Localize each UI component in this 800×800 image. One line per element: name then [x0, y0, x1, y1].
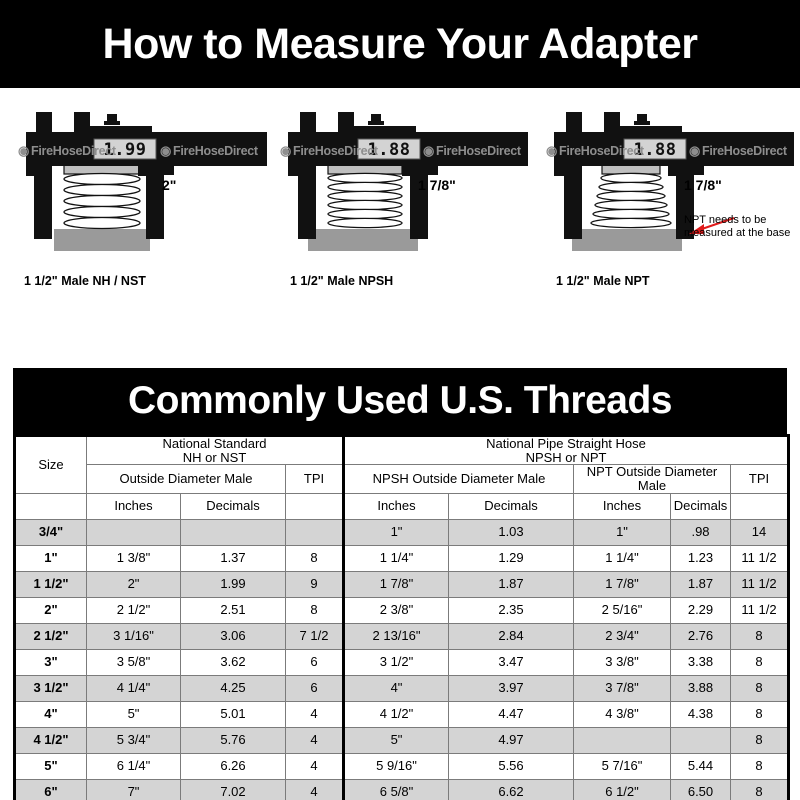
- cell-npt-decimals: 5.44: [671, 753, 731, 779]
- cell-npsh-inches: 6 5/8": [344, 779, 449, 800]
- cell-size: 3": [15, 649, 87, 675]
- header-npt-outside-diameter-male: NPT Outside Diameter Male: [574, 465, 731, 493]
- cell-npsh-inches: 3 1/2": [344, 649, 449, 675]
- diagram-npsh: 1.88 ◉ FireHoseDirect ◉ FireHoseDirect 1…: [278, 106, 543, 356]
- reading-label-npt: 1 7/8": [684, 177, 722, 193]
- table-header-row-sub: Outside Diameter Male TPI NPSH Outside D…: [15, 465, 789, 493]
- reading-label-nh: 2": [162, 177, 176, 193]
- cell-nh-decimals: 1.99: [181, 571, 286, 597]
- caliper-diagram-band: FireHoseDirect: [0, 88, 800, 368]
- cell-nh-inches: 1 3/8": [87, 545, 181, 571]
- cell-npt-decimals: 1.87: [671, 571, 731, 597]
- table-title-bar: Commonly Used U.S. Threads: [13, 368, 787, 434]
- cell-np-tpi: 8: [731, 753, 789, 779]
- diagram-nh-nst: 1.99 ◉ FireHoseDirect ◉ FireHoseDirect 2…: [12, 106, 277, 356]
- cell-np-tpi: 8: [731, 649, 789, 675]
- cell-size: 3/4": [15, 519, 87, 545]
- cell-npsh-inches: 4 1/2": [344, 701, 449, 727]
- header-units-nh-tpi-blank: [286, 493, 344, 519]
- cell-nh-tpi: 8: [286, 597, 344, 623]
- cell-nh-inches: 2 1/2": [87, 597, 181, 623]
- npt-base-note: NPT needs to be measured at the base: [684, 214, 790, 240]
- cell-np-tpi: 8: [731, 779, 789, 800]
- svg-text:1.88: 1.88: [368, 140, 411, 160]
- cell-npsh-inches: 1": [344, 519, 449, 545]
- header-nh-tpi: TPI: [286, 465, 344, 493]
- cell-npt-inches: 4 3/8": [574, 701, 671, 727]
- cell-npt-decimals: 4.38: [671, 701, 731, 727]
- table-row: 5"6 1/4"6.2645 9/16"5.565 7/16"5.448: [15, 753, 789, 779]
- measure-adapter-infographic: How to Measure Your Adapter FireHoseDire…: [0, 0, 800, 800]
- cell-nh-decimals: 3.62: [181, 649, 286, 675]
- cell-npsh-decimals: 2.84: [449, 623, 574, 649]
- cell-nh-decimals: 1.37: [181, 545, 286, 571]
- cell-nh-tpi: 6: [286, 649, 344, 675]
- header-npt-decimals: Decimals: [671, 493, 731, 519]
- table-row: 4"5"5.0144 1/2"4.474 3/8"4.388: [15, 701, 789, 727]
- cell-nh-tpi: 4: [286, 753, 344, 779]
- cell-nh-tpi: 4: [286, 779, 344, 800]
- cell-size: 6": [15, 779, 87, 800]
- cell-np-tpi: 8: [731, 675, 789, 701]
- caption-npt: 1 1/2" Male NPT: [556, 274, 649, 288]
- table-row: 6"7"7.0246 5/8"6.626 1/2"6.508: [15, 779, 789, 800]
- header-npt-inches: Inches: [574, 493, 671, 519]
- caliper-npsh-graphic: 1.88: [278, 106, 543, 356]
- table-row: 2 1/2"3 1/16"3.067 1/22 13/16"2.842 3/4"…: [15, 623, 789, 649]
- cell-nh-tpi: 7 1/2: [286, 623, 344, 649]
- caption-nh-nst: 1 1/2" Male NH / NST: [24, 274, 146, 288]
- cell-size: 4 1/2": [15, 727, 87, 753]
- cell-nh-tpi: 6: [286, 675, 344, 701]
- cell-nh-tpi: 4: [286, 701, 344, 727]
- header-units-np-tpi-blank: [731, 493, 789, 519]
- cell-npsh-decimals: 2.35: [449, 597, 574, 623]
- header-nh-decimals: Decimals: [181, 493, 286, 519]
- table-row: 1"1 3/8"1.3781 1/4"1.291 1/4"1.2311 1/2: [15, 545, 789, 571]
- npt-base-note-line2: measured at the base: [684, 227, 790, 240]
- cell-nh-inches: 2": [87, 571, 181, 597]
- threads-table-body: 3/4"1"1.031".98141"1 3/8"1.3781 1/4"1.29…: [15, 519, 789, 800]
- main-title-bar: How to Measure Your Adapter: [0, 0, 800, 88]
- cell-np-tpi: 8: [731, 701, 789, 727]
- cell-npt-decimals: 1.23: [671, 545, 731, 571]
- header-npsh-outside-diameter-male: NPSH Outside Diameter Male: [344, 465, 574, 493]
- cell-np-tpi: 11 1/2: [731, 571, 789, 597]
- cell-npsh-decimals: 6.62: [449, 779, 574, 800]
- cell-npt-inches: 3 3/8": [574, 649, 671, 675]
- cell-np-tpi: 11 1/2: [731, 545, 789, 571]
- cell-npt-inches: 2 5/16": [574, 597, 671, 623]
- page-title: How to Measure Your Adapter: [103, 20, 698, 69]
- cell-size: 1 1/2": [15, 571, 87, 597]
- header-npsh-decimals: Decimals: [449, 493, 574, 519]
- cell-npt-inches: [574, 727, 671, 753]
- cell-npsh-decimals: 5.56: [449, 753, 574, 779]
- cell-npt-decimals: 3.88: [671, 675, 731, 701]
- svg-text:1.88: 1.88: [634, 140, 677, 160]
- cell-size: 2": [15, 597, 87, 623]
- cell-nh-decimals: 4.25: [181, 675, 286, 701]
- cell-nh-inches: 5": [87, 701, 181, 727]
- cell-npt-decimals: 6.50: [671, 779, 731, 800]
- cell-np-tpi: 8: [731, 727, 789, 753]
- cell-npsh-inches: 2 13/16": [344, 623, 449, 649]
- table-row: 1 1/2"2"1.9991 7/8"1.871 7/8"1.8711 1/2: [15, 571, 789, 597]
- cell-size: 2 1/2": [15, 623, 87, 649]
- cell-nh-decimals: 2.51: [181, 597, 286, 623]
- cell-nh-decimals: 5.01: [181, 701, 286, 727]
- reading-label-npsh: 1 7/8": [418, 177, 456, 193]
- table-title: Commonly Used U.S. Threads: [128, 379, 672, 423]
- threads-reference-table: Size National Standard NH or NST Nationa…: [13, 434, 790, 800]
- cell-np-tpi: 8: [731, 623, 789, 649]
- table-row: 3/4"1"1.031".9814: [15, 519, 789, 545]
- cell-nh-inches: 7": [87, 779, 181, 800]
- cell-size: 4": [15, 701, 87, 727]
- cell-nh-decimals: 6.26: [181, 753, 286, 779]
- table-header-row-units: Inches Decimals Inches Decimals Inches D…: [15, 493, 789, 519]
- cell-nh-tpi: [286, 519, 344, 545]
- cell-npt-inches: 6 1/2": [574, 779, 671, 800]
- cell-nh-inches: 3 1/16": [87, 623, 181, 649]
- header-group-national-standard: National Standard NH or NST: [87, 436, 344, 465]
- cell-nh-inches: 6 1/4": [87, 753, 181, 779]
- cell-npt-inches: 3 7/8": [574, 675, 671, 701]
- cell-npt-inches: 1 1/4": [574, 545, 671, 571]
- table-row: 4 1/2"5 3/4"5.7645"4.978: [15, 727, 789, 753]
- cell-npt-inches: 1": [574, 519, 671, 545]
- header-group-national-pipe-straight-hose: National Pipe Straight Hose NPSH or NPT: [344, 436, 789, 465]
- cell-npt-decimals: 2.29: [671, 597, 731, 623]
- cell-nh-inches: 5 3/4": [87, 727, 181, 753]
- cell-nh-tpi: 8: [286, 545, 344, 571]
- cell-npt-inches: 1 7/8": [574, 571, 671, 597]
- cell-npt-inches: 5 7/16": [574, 753, 671, 779]
- table-header-row-groups: Size National Standard NH or NST Nationa…: [15, 436, 789, 465]
- header-npsh-inches: Inches: [344, 493, 449, 519]
- header-units-size-blank: [15, 493, 87, 519]
- cell-npt-inches: 2 3/4": [574, 623, 671, 649]
- cell-nh-decimals: 3.06: [181, 623, 286, 649]
- cell-npt-decimals: [671, 727, 731, 753]
- cell-nh-inches: [87, 519, 181, 545]
- cell-npsh-inches: 4": [344, 675, 449, 701]
- cell-size: 1": [15, 545, 87, 571]
- cell-npt-decimals: .98: [671, 519, 731, 545]
- cell-nh-decimals: 7.02: [181, 779, 286, 800]
- header-nh-inches: Inches: [87, 493, 181, 519]
- header-group-ns-line1: National Standard: [87, 437, 342, 451]
- cell-npsh-decimals: 4.97: [449, 727, 574, 753]
- header-group-nps-line2: NPSH or NPT: [345, 451, 787, 465]
- diagram-npt: 1.88 ◉ FireHoseDirect ◉ FireHoseDirect: [544, 106, 800, 356]
- cell-npt-decimals: 2.76: [671, 623, 731, 649]
- table-row: 3 1/2"4 1/4"4.2564"3.973 7/8"3.888: [15, 675, 789, 701]
- cell-npsh-inches: 1 1/4": [344, 545, 449, 571]
- cell-np-tpi: 14: [731, 519, 789, 545]
- cell-nh-tpi: 9: [286, 571, 344, 597]
- cell-npsh-decimals: 3.97: [449, 675, 574, 701]
- cell-npsh-decimals: 1.87: [449, 571, 574, 597]
- svg-text:1.99: 1.99: [104, 140, 147, 160]
- header-nh-outside-diameter-male: Outside Diameter Male: [87, 465, 286, 493]
- cell-npsh-decimals: 1.29: [449, 545, 574, 571]
- table-row: 2"2 1/2"2.5182 3/8"2.352 5/16"2.2911 1/2: [15, 597, 789, 623]
- header-size: Size: [15, 436, 87, 494]
- cell-nh-inches: 4 1/4": [87, 675, 181, 701]
- cell-npsh-decimals: 3.47: [449, 649, 574, 675]
- cell-size: 5": [15, 753, 87, 779]
- cell-np-tpi: 11 1/2: [731, 597, 789, 623]
- header-np-tpi: TPI: [731, 465, 789, 493]
- cell-npsh-inches: 5 9/16": [344, 753, 449, 779]
- cell-npsh-inches: 2 3/8": [344, 597, 449, 623]
- cell-npt-decimals: 3.38: [671, 649, 731, 675]
- cell-npsh-inches: 5": [344, 727, 449, 753]
- cell-size: 3 1/2": [15, 675, 87, 701]
- cell-nh-tpi: 4: [286, 727, 344, 753]
- caption-npsh: 1 1/2" Male NPSH: [290, 274, 393, 288]
- cell-nh-decimals: [181, 519, 286, 545]
- table-row: 3"3 5/8"3.6263 1/2"3.473 3/8"3.388: [15, 649, 789, 675]
- header-group-ns-line2: NH or NST: [87, 451, 342, 465]
- header-group-nps-line1: National Pipe Straight Hose: [345, 437, 787, 451]
- cell-npsh-decimals: 4.47: [449, 701, 574, 727]
- npt-base-note-line1: NPT needs to be: [684, 214, 790, 227]
- caliper-nh-graphic: 1.99: [12, 106, 277, 356]
- cell-nh-inches: 3 5/8": [87, 649, 181, 675]
- cell-npsh-decimals: 1.03: [449, 519, 574, 545]
- cell-npsh-inches: 1 7/8": [344, 571, 449, 597]
- cell-nh-decimals: 5.76: [181, 727, 286, 753]
